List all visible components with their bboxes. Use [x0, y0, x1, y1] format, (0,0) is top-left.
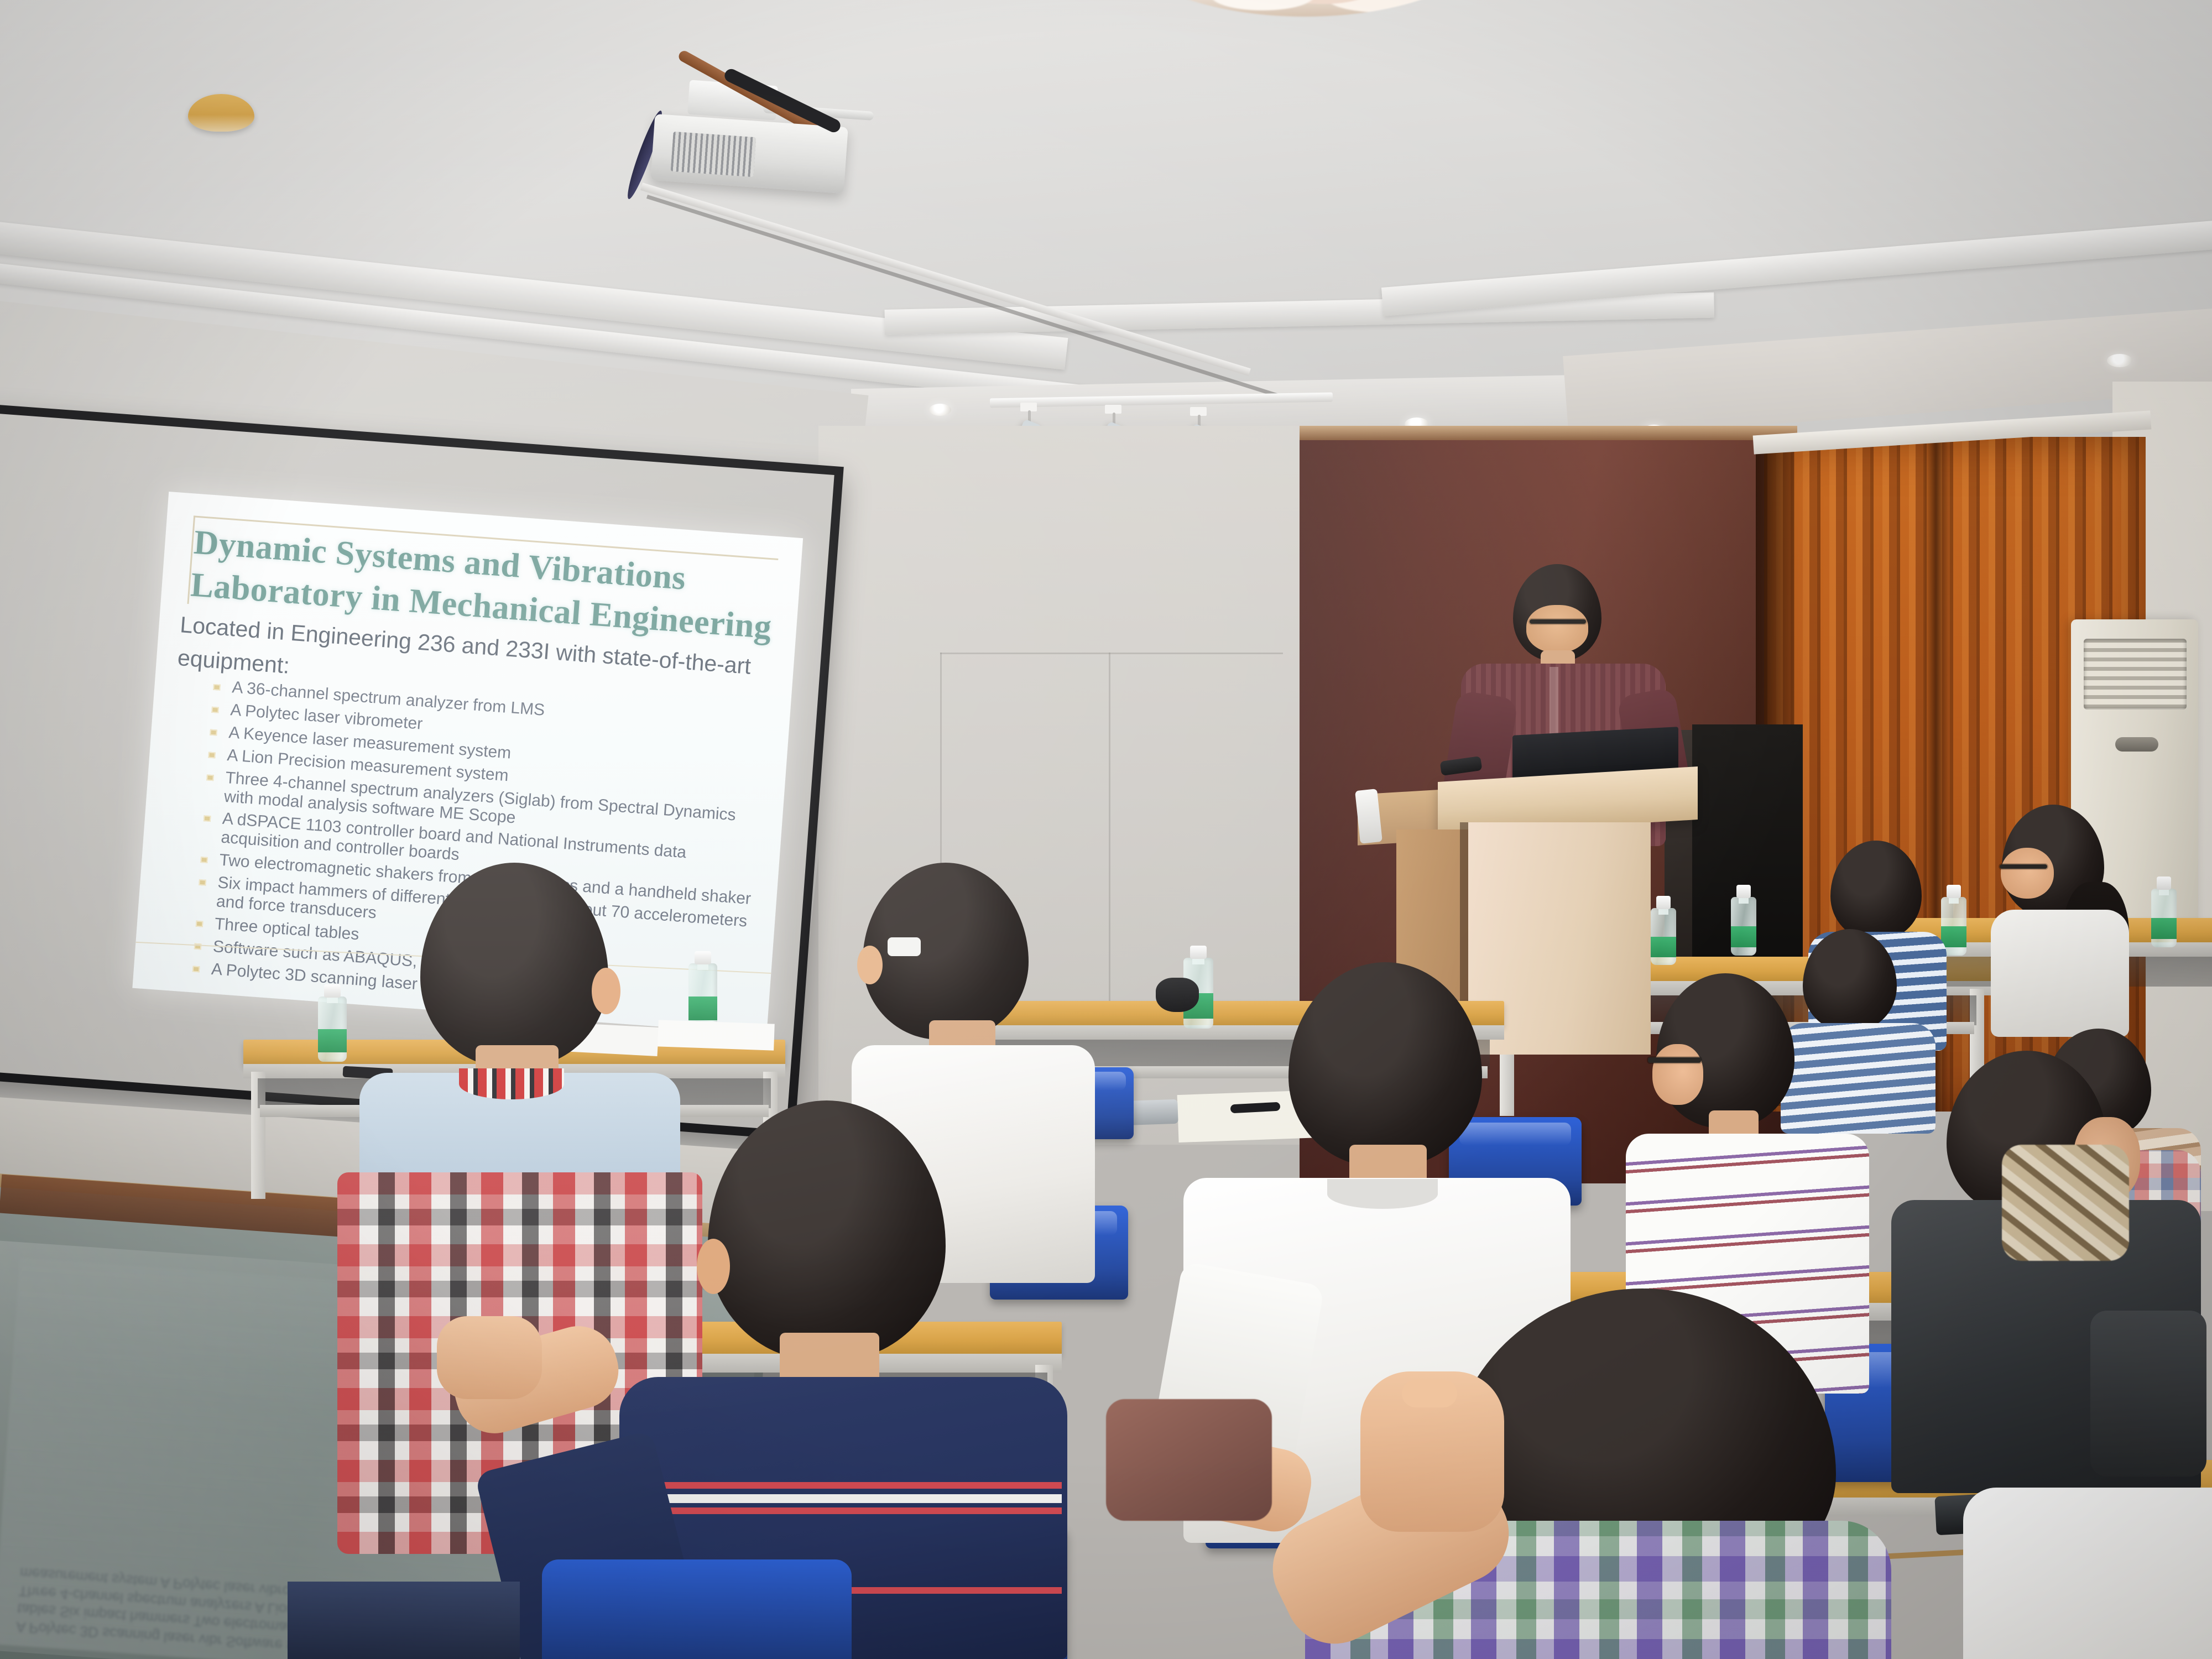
- recessed-downlight: [2107, 354, 2132, 367]
- arm: [2090, 1311, 2206, 1477]
- hand: [437, 1316, 542, 1399]
- chair-foreground[interactable]: [542, 1559, 852, 1659]
- wall-panel-seam: [940, 653, 1283, 654]
- head: [1830, 841, 1922, 940]
- glasses: [1648, 1057, 1701, 1063]
- handbag[interactable]: [2002, 1145, 2129, 1261]
- water-bottle[interactable]: [2151, 877, 2177, 947]
- bottle-label: [2151, 918, 2177, 939]
- bottle-body: [1731, 897, 1756, 956]
- shirt-collar: [459, 1068, 564, 1099]
- bottle-cap: [1656, 896, 1671, 909]
- bottle-label: [1651, 937, 1676, 957]
- clothing: [1991, 910, 2129, 1037]
- water-bottle[interactable]: [1731, 885, 1756, 956]
- head: [1288, 962, 1482, 1167]
- water-bottle[interactable]: [1651, 896, 1676, 965]
- collar: [1327, 1179, 1438, 1209]
- ear: [697, 1239, 730, 1294]
- audience-member-white-shirt-foreground: [1963, 1488, 2212, 1659]
- lecture-hall-photo: Dynamic Systems and Vibrations Laborator…: [0, 0, 2212, 1659]
- shirt-stripe-white: [630, 1494, 1062, 1503]
- glasses: [2000, 864, 2047, 869]
- audience-member-dark-tshirt: [1869, 1051, 2212, 1493]
- ear: [592, 968, 620, 1014]
- air-conditioner-badge: [2115, 737, 2158, 752]
- head: [708, 1100, 946, 1360]
- presenter-face: [1526, 605, 1588, 653]
- wood-wall-trim: [1300, 426, 1797, 440]
- audience-member-purple-plaid-woman: [1305, 1288, 1891, 1659]
- bottle-cap: [1190, 946, 1207, 959]
- clothing: [1963, 1488, 2212, 1659]
- projector-vent: [671, 132, 757, 177]
- face: [1652, 1044, 1703, 1105]
- presenter-glasses: [1530, 619, 1586, 624]
- thumb: [1402, 1380, 1457, 1407]
- face: [2001, 848, 2054, 899]
- shirt-stripe-red: [630, 1482, 1062, 1489]
- bottle-cap: [2157, 877, 2171, 890]
- recessed-downlight: [929, 404, 951, 416]
- wall-panel-seam: [1109, 653, 1110, 1040]
- earphone: [888, 937, 921, 956]
- audience-member-foreground-partial: [288, 1582, 520, 1659]
- head: [420, 863, 608, 1067]
- bottle-cap: [1736, 885, 1751, 898]
- audience-member-glasses-woman: [1969, 805, 2151, 1037]
- backpack[interactable]: [1106, 1399, 1272, 1521]
- ear: [857, 946, 883, 984]
- bottle-body: [1651, 908, 1676, 965]
- bottle-label: [1731, 926, 1756, 947]
- air-conditioner-grille: [2084, 639, 2187, 709]
- bottle-body: [2151, 889, 2177, 947]
- shirt-stripe-red: [630, 1507, 1062, 1514]
